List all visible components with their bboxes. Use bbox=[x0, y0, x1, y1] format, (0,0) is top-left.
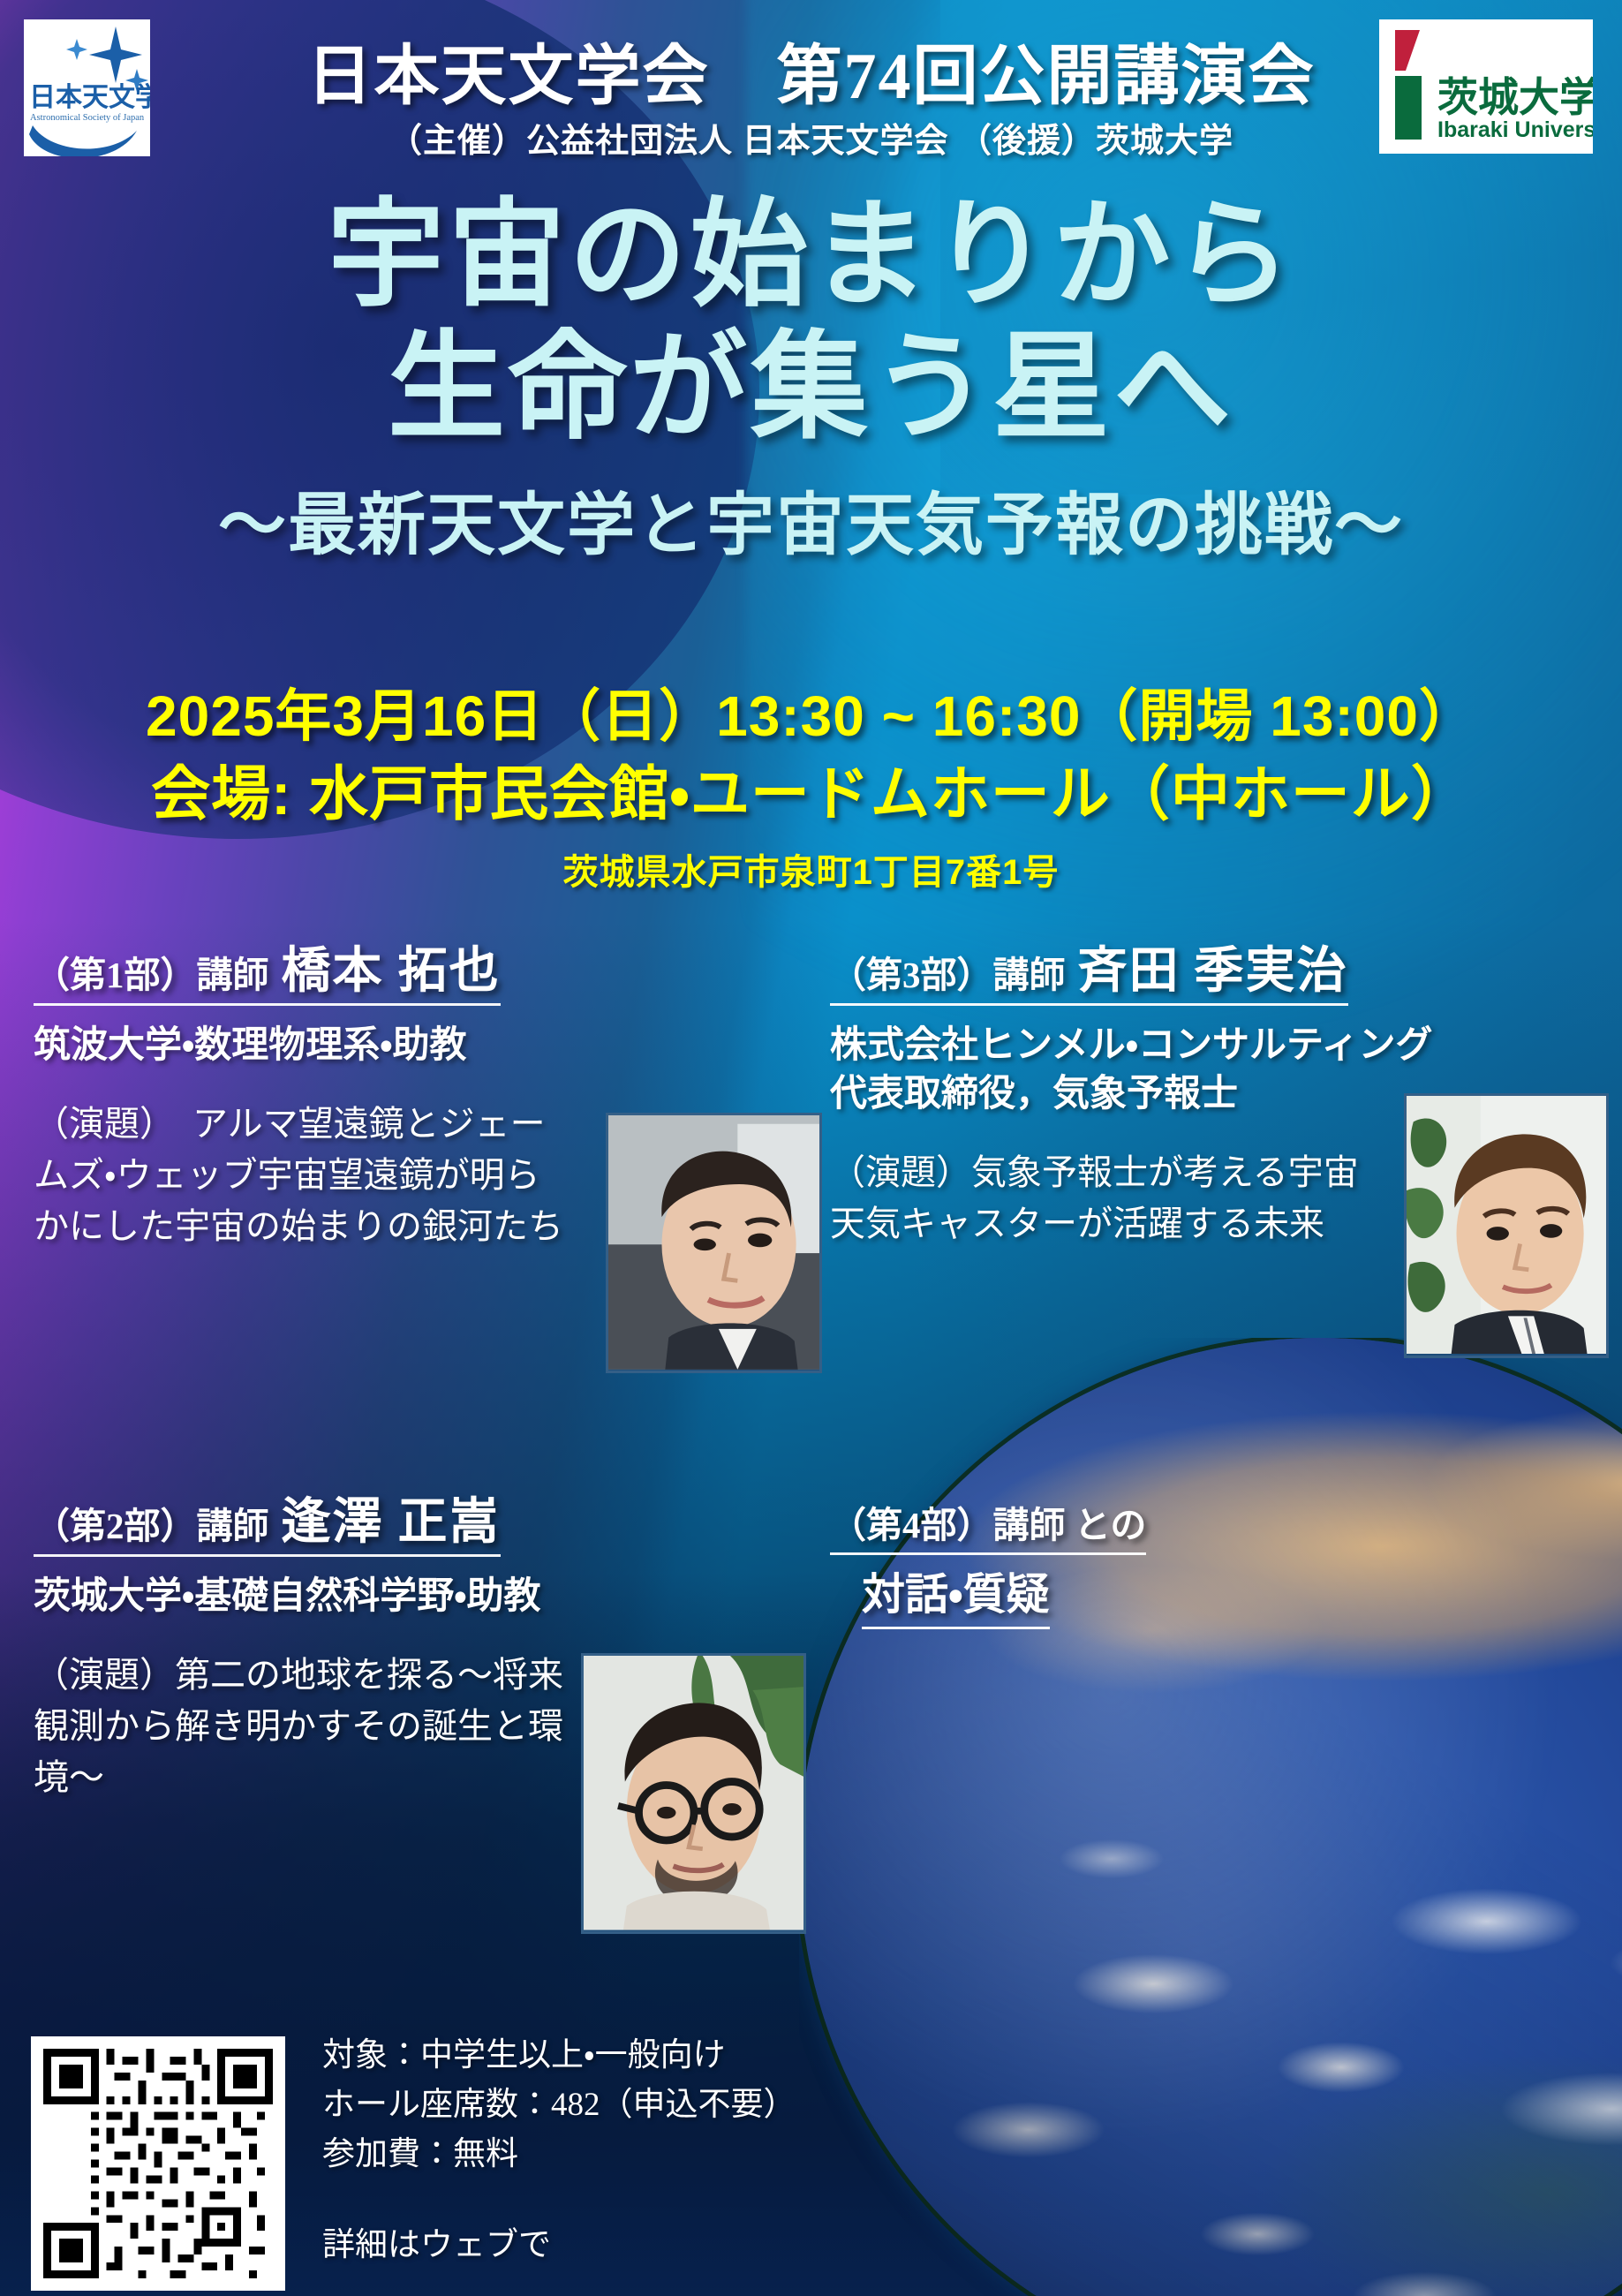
earth-shading bbox=[799, 1338, 1622, 2296]
speaker-1-name: 橋本 拓也 bbox=[282, 944, 501, 999]
speaker-2-talk-title: （演題）第二の地球を探る〜将来観測から解き明かすその誕生と環境〜 bbox=[34, 1650, 563, 1803]
event-datetime: 2025年3月16日（日）13:30 ~ 16:30（開場 13:00） bbox=[0, 671, 1622, 752]
speaker-section-part3: （第3部）講師斉田 季実治 株式会社ヒンメル・コンサルティング 代表取締役，気象… bbox=[830, 943, 1607, 1250]
speaker-3-affiliation-line1: 株式会社ヒンメル・コンサルティング bbox=[830, 1022, 1607, 1070]
footer-fee: 参加費：無料 bbox=[322, 2130, 796, 2179]
footer-seats: ホール座席数：482（申込不要） bbox=[322, 2081, 796, 2130]
speaker-1-talk-title: （演題） アルマ望遠鏡とジェームズ・ウェッブ宇宙望遠鏡が明らかにした宇宙の始まり… bbox=[34, 1099, 563, 1252]
footer-web-note: 詳細はウェブで bbox=[322, 2221, 796, 2270]
speaker-3-heading: （第3部）講師斉田 季実治 bbox=[830, 943, 1348, 1006]
speaker-2-part-label: （第2部）講師 bbox=[34, 1506, 269, 1546]
speaker-1-portrait bbox=[606, 1113, 822, 1373]
main-subtitle: 〜最新天文学と宇宙天気予報の挑戦〜 bbox=[0, 471, 1622, 569]
event-venue: 会場: 水戸市民会館・ユードムホール（中ホール） bbox=[0, 746, 1622, 832]
speaker-section-part1: （第1部）講師橋本 拓也 筑波大学・数理物理系・助教 （演題） アルマ望遠鏡とジ… bbox=[34, 943, 811, 1252]
poster-header: 日本天文学会 Astronomical Society of Japan 日本天… bbox=[0, 0, 1622, 172]
main-title-line-1: 宇宙の始まりから bbox=[0, 193, 1622, 318]
speaker-section-part2: （第2部）講師逢澤 正嵩 茨城大学・基礎自然科学野・助教 （演題）第二の地球を探… bbox=[34, 1494, 811, 1803]
footer-info: 対象：中学生以上・一般向け ホール座席数：482（申込不要） 参加費：無料 詳細… bbox=[322, 2031, 796, 2270]
svg-text:茨城大学: 茨城大学 bbox=[1437, 74, 1593, 120]
speaker-3-part-label: （第3部）講師 bbox=[830, 955, 1066, 995]
footer-spacer bbox=[322, 2180, 796, 2221]
speaker-2-affiliation: 茨城大学・基礎自然科学野・助教 bbox=[34, 1573, 811, 1621]
speaker-1-part-label: （第1部）講師 bbox=[34, 955, 269, 995]
speaker-4-heading: （第4部）講師 との 対話・質疑 bbox=[830, 1494, 1377, 1629]
speaker-3-name: 斉田 季実治 bbox=[1078, 944, 1348, 999]
ibaraki-university-logo: 茨城大学 Ibaraki University bbox=[1379, 19, 1593, 154]
main-title-line-2: 生命が集う星へ bbox=[0, 325, 1622, 450]
speaker-3-portrait bbox=[1404, 1093, 1609, 1358]
poster-root: 日本天文学会 Astronomical Society of Japan 日本天… bbox=[0, 0, 1622, 2296]
speaker-2-portrait bbox=[581, 1653, 806, 1934]
speaker-1-affiliation: 筑波大学・数理物理系・助教 bbox=[34, 1022, 811, 1070]
speaker-section-part4: （第4部）講師 との 対話・質疑 bbox=[830, 1494, 1377, 1629]
speaker-3-talk-title: （演題）気象予報士が考える宇宙天気キャスターが活躍する未来 bbox=[830, 1147, 1360, 1250]
earth-image bbox=[799, 1338, 1622, 2296]
svg-text:Ibaraki University: Ibaraki University bbox=[1437, 117, 1593, 142]
speaker-2-heading: （第2部）講師逢澤 正嵩 bbox=[34, 1494, 501, 1557]
main-title-block: 宇宙の始まりから 生命が集う星へ 〜最新天文学と宇宙天気予報の挑戦〜 bbox=[0, 193, 1622, 569]
speaker-2-name: 逢澤 正嵩 bbox=[282, 1495, 501, 1550]
event-address: 茨城県水戸市泉町1丁目7番1号 bbox=[0, 843, 1622, 895]
footer-audience: 対象：中学生以上・一般向け bbox=[322, 2031, 796, 2081]
speaker-4-title: 対話・質疑 bbox=[862, 1566, 1050, 1629]
speaker-1-heading: （第1部）講師橋本 拓也 bbox=[34, 943, 501, 1006]
qr-code[interactable] bbox=[31, 2036, 285, 2291]
speaker-4-part-label: （第4部）講師 との bbox=[830, 1501, 1146, 1555]
